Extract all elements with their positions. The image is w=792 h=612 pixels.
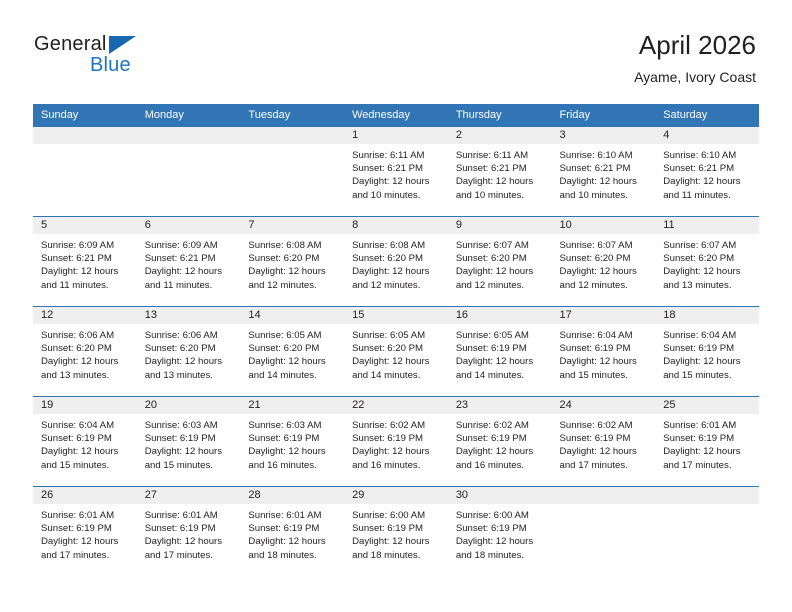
- day-detail-line: and 10 minutes.: [560, 189, 650, 202]
- day-details: Sunrise: 6:02 AMSunset: 6:19 PMDaylight:…: [448, 414, 552, 472]
- day-detail-line: Daylight: 12 hours: [145, 355, 235, 368]
- day-detail-line: Sunset: 6:20 PM: [456, 252, 546, 265]
- general-blue-logo[interactable]: General Blue: [34, 33, 154, 81]
- day-detail-line: Sunset: 6:21 PM: [456, 162, 546, 175]
- day-number: 12: [33, 307, 137, 324]
- calendar-day-cell[interactable]: 18Sunrise: 6:04 AMSunset: 6:19 PMDayligh…: [655, 307, 759, 397]
- day-number: 5: [33, 217, 137, 234]
- day-number: 18: [655, 307, 759, 324]
- day-detail-line: Sunrise: 6:10 AM: [663, 149, 753, 162]
- day-detail-line: Daylight: 12 hours: [560, 445, 650, 458]
- day-detail-line: Daylight: 12 hours: [352, 535, 442, 548]
- title-block: April 2026 Ayame, Ivory Coast: [634, 30, 756, 85]
- day-detail-line: and 18 minutes.: [456, 549, 546, 562]
- day-detail-line: Daylight: 12 hours: [663, 265, 753, 278]
- day-detail-line: Sunset: 6:19 PM: [41, 432, 131, 445]
- day-details: Sunrise: 6:11 AMSunset: 6:21 PMDaylight:…: [344, 144, 448, 202]
- day-detail-line: Sunset: 6:20 PM: [352, 342, 442, 355]
- day-number: 20: [137, 397, 241, 414]
- day-detail-line: Sunset: 6:19 PM: [352, 432, 442, 445]
- day-details: Sunrise: 6:02 AMSunset: 6:19 PMDaylight:…: [344, 414, 448, 472]
- calendar-day-cell[interactable]: 19Sunrise: 6:04 AMSunset: 6:19 PMDayligh…: [33, 397, 137, 487]
- day-details: Sunrise: 6:06 AMSunset: 6:20 PMDaylight:…: [33, 324, 137, 382]
- day-detail-line: and 13 minutes.: [663, 279, 753, 292]
- day-detail-line: Sunrise: 6:04 AM: [41, 419, 131, 432]
- day-detail-line: Sunrise: 6:01 AM: [663, 419, 753, 432]
- calendar-week-row: 12Sunrise: 6:06 AMSunset: 6:20 PMDayligh…: [33, 307, 759, 397]
- day-details: Sunrise: 6:07 AMSunset: 6:20 PMDaylight:…: [552, 234, 656, 292]
- logo-text-blue: Blue: [90, 54, 131, 76]
- weekday-header-saturday: Saturday: [655, 104, 759, 127]
- day-detail-line: Sunrise: 6:09 AM: [145, 239, 235, 252]
- calendar-day-cell[interactable]: 7Sunrise: 6:08 AMSunset: 6:20 PMDaylight…: [240, 217, 344, 307]
- day-detail-line: Sunset: 6:19 PM: [456, 342, 546, 355]
- day-detail-line: Sunrise: 6:10 AM: [560, 149, 650, 162]
- day-detail-line: and 13 minutes.: [145, 369, 235, 382]
- day-detail-line: Daylight: 12 hours: [456, 445, 546, 458]
- day-details: Sunrise: 6:01 AMSunset: 6:19 PMDaylight:…: [655, 414, 759, 472]
- day-number: 8: [344, 217, 448, 234]
- calendar-day-cell-empty: [240, 127, 344, 217]
- day-detail-line: Sunrise: 6:05 AM: [248, 329, 338, 342]
- day-detail-line: Daylight: 12 hours: [41, 445, 131, 458]
- day-detail-line: Sunset: 6:21 PM: [41, 252, 131, 265]
- day-detail-line: Daylight: 12 hours: [41, 535, 131, 548]
- calendar-table: Sunday Monday Tuesday Wednesday Thursday…: [33, 104, 759, 576]
- day-details: Sunrise: 6:03 AMSunset: 6:19 PMDaylight:…: [240, 414, 344, 472]
- calendar-day-cell[interactable]: 12Sunrise: 6:06 AMSunset: 6:20 PMDayligh…: [33, 307, 137, 397]
- day-detail-line: and 14 minutes.: [248, 369, 338, 382]
- day-detail-line: Daylight: 12 hours: [456, 355, 546, 368]
- calendar-day-cell-empty: [655, 487, 759, 577]
- day-number: [240, 127, 344, 144]
- weekday-header-friday: Friday: [552, 104, 656, 127]
- day-detail-line: Sunrise: 6:06 AM: [145, 329, 235, 342]
- day-details: Sunrise: 6:04 AMSunset: 6:19 PMDaylight:…: [552, 324, 656, 382]
- calendar-day-cell[interactable]: 27Sunrise: 6:01 AMSunset: 6:19 PMDayligh…: [137, 487, 241, 577]
- day-details: Sunrise: 6:04 AMSunset: 6:19 PMDaylight:…: [33, 414, 137, 472]
- day-detail-line: Sunset: 6:20 PM: [145, 342, 235, 355]
- day-detail-line: Sunrise: 6:06 AM: [41, 329, 131, 342]
- day-detail-line: Sunrise: 6:04 AM: [663, 329, 753, 342]
- calendar-body: 1Sunrise: 6:11 AMSunset: 6:21 PMDaylight…: [33, 127, 759, 577]
- day-details: Sunrise: 6:04 AMSunset: 6:19 PMDaylight:…: [655, 324, 759, 382]
- day-detail-line: Sunset: 6:19 PM: [352, 522, 442, 535]
- day-number: 14: [240, 307, 344, 324]
- day-detail-line: and 13 minutes.: [41, 369, 131, 382]
- day-details: Sunrise: 6:07 AMSunset: 6:20 PMDaylight:…: [655, 234, 759, 292]
- day-number: 15: [344, 307, 448, 324]
- day-detail-line: Sunrise: 6:05 AM: [352, 329, 442, 342]
- calendar-day-cell[interactable]: 22Sunrise: 6:02 AMSunset: 6:19 PMDayligh…: [344, 397, 448, 487]
- day-detail-line: and 11 minutes.: [663, 189, 753, 202]
- calendar-day-cell[interactable]: 11Sunrise: 6:07 AMSunset: 6:20 PMDayligh…: [655, 217, 759, 307]
- calendar-day-cell[interactable]: 1Sunrise: 6:11 AMSunset: 6:21 PMDaylight…: [344, 127, 448, 217]
- day-details: Sunrise: 6:05 AMSunset: 6:19 PMDaylight:…: [448, 324, 552, 382]
- day-number: 28: [240, 487, 344, 504]
- day-detail-line: Sunset: 6:20 PM: [663, 252, 753, 265]
- calendar-day-cell[interactable]: 10Sunrise: 6:07 AMSunset: 6:20 PMDayligh…: [552, 217, 656, 307]
- day-detail-line: Daylight: 12 hours: [663, 355, 753, 368]
- day-detail-line: Sunset: 6:20 PM: [248, 252, 338, 265]
- day-detail-line: Sunset: 6:21 PM: [560, 162, 650, 175]
- day-detail-line: and 17 minutes.: [41, 549, 131, 562]
- weekday-header-thursday: Thursday: [448, 104, 552, 127]
- day-details: Sunrise: 6:00 AMSunset: 6:19 PMDaylight:…: [344, 504, 448, 562]
- day-details: [137, 144, 241, 149]
- calendar-day-cell[interactable]: 2Sunrise: 6:11 AMSunset: 6:21 PMDaylight…: [448, 127, 552, 217]
- day-detail-line: and 10 minutes.: [456, 189, 546, 202]
- day-detail-line: Sunset: 6:19 PM: [248, 432, 338, 445]
- weekday-header-wednesday: Wednesday: [344, 104, 448, 127]
- day-detail-line: and 18 minutes.: [248, 549, 338, 562]
- day-detail-line: Sunset: 6:19 PM: [41, 522, 131, 535]
- calendar-day-cell[interactable]: 26Sunrise: 6:01 AMSunset: 6:19 PMDayligh…: [33, 487, 137, 577]
- day-detail-line: and 16 minutes.: [248, 459, 338, 472]
- day-detail-line: and 15 minutes.: [560, 369, 650, 382]
- calendar-day-cell[interactable]: 29Sunrise: 6:00 AMSunset: 6:19 PMDayligh…: [344, 487, 448, 577]
- day-detail-line: Sunset: 6:20 PM: [560, 252, 650, 265]
- calendar-day-cell[interactable]: 15Sunrise: 6:05 AMSunset: 6:20 PMDayligh…: [344, 307, 448, 397]
- calendar-header-row: Sunday Monday Tuesday Wednesday Thursday…: [33, 104, 759, 127]
- day-detail-line: and 16 minutes.: [456, 459, 546, 472]
- calendar-day-cell[interactable]: 30Sunrise: 6:00 AMSunset: 6:19 PMDayligh…: [448, 487, 552, 577]
- day-number: [655, 487, 759, 504]
- day-detail-line: Sunrise: 6:04 AM: [560, 329, 650, 342]
- day-number: [552, 487, 656, 504]
- calendar-week-row: 19Sunrise: 6:04 AMSunset: 6:19 PMDayligh…: [33, 397, 759, 487]
- day-detail-line: and 12 minutes.: [456, 279, 546, 292]
- day-detail-line: Sunrise: 6:02 AM: [560, 419, 650, 432]
- day-detail-line: Sunrise: 6:08 AM: [352, 239, 442, 252]
- day-detail-line: Sunrise: 6:07 AM: [663, 239, 753, 252]
- day-number: 11: [655, 217, 759, 234]
- day-detail-line: Sunrise: 6:02 AM: [456, 419, 546, 432]
- day-detail-line: Sunset: 6:19 PM: [456, 432, 546, 445]
- day-detail-line: Daylight: 12 hours: [248, 355, 338, 368]
- day-number: 3: [552, 127, 656, 144]
- calendar-day-cell[interactable]: 17Sunrise: 6:04 AMSunset: 6:19 PMDayligh…: [552, 307, 656, 397]
- day-detail-line: and 12 minutes.: [352, 279, 442, 292]
- day-detail-line: Sunrise: 6:08 AM: [248, 239, 338, 252]
- day-number: 13: [137, 307, 241, 324]
- day-detail-line: Daylight: 12 hours: [352, 355, 442, 368]
- day-detail-line: Sunrise: 6:00 AM: [352, 509, 442, 522]
- calendar-day-cell[interactable]: 21Sunrise: 6:03 AMSunset: 6:19 PMDayligh…: [240, 397, 344, 487]
- day-detail-line: Daylight: 12 hours: [145, 265, 235, 278]
- day-detail-line: Sunrise: 6:01 AM: [145, 509, 235, 522]
- day-detail-line: and 17 minutes.: [663, 459, 753, 472]
- day-number: 29: [344, 487, 448, 504]
- day-detail-line: Daylight: 12 hours: [248, 535, 338, 548]
- day-number: 25: [655, 397, 759, 414]
- day-detail-line: and 12 minutes.: [560, 279, 650, 292]
- day-detail-line: Sunset: 6:20 PM: [248, 342, 338, 355]
- page-subtitle: Ayame, Ivory Coast: [634, 69, 756, 85]
- day-detail-line: and 10 minutes.: [352, 189, 442, 202]
- day-detail-line: Daylight: 12 hours: [560, 355, 650, 368]
- day-detail-line: Daylight: 12 hours: [41, 265, 131, 278]
- day-details: Sunrise: 6:05 AMSunset: 6:20 PMDaylight:…: [344, 324, 448, 382]
- day-details: Sunrise: 6:10 AMSunset: 6:21 PMDaylight:…: [552, 144, 656, 202]
- day-detail-line: Sunrise: 6:01 AM: [248, 509, 338, 522]
- day-detail-line: and 14 minutes.: [352, 369, 442, 382]
- day-details: Sunrise: 6:06 AMSunset: 6:20 PMDaylight:…: [137, 324, 241, 382]
- weekday-header-sunday: Sunday: [33, 104, 137, 127]
- calendar-grid: Sunday Monday Tuesday Wednesday Thursday…: [33, 104, 759, 576]
- calendar-day-cell[interactable]: 13Sunrise: 6:06 AMSunset: 6:20 PMDayligh…: [137, 307, 241, 397]
- day-detail-line: Daylight: 12 hours: [456, 535, 546, 548]
- calendar-day-cell[interactable]: 4Sunrise: 6:10 AMSunset: 6:21 PMDaylight…: [655, 127, 759, 217]
- day-number: [137, 127, 241, 144]
- flag-triangle-icon: [109, 36, 136, 54]
- day-detail-line: Sunrise: 6:11 AM: [456, 149, 546, 162]
- day-detail-line: Sunset: 6:19 PM: [663, 342, 753, 355]
- day-detail-line: Daylight: 12 hours: [352, 175, 442, 188]
- day-number: 19: [33, 397, 137, 414]
- day-detail-line: Sunrise: 6:05 AM: [456, 329, 546, 342]
- day-number: 26: [33, 487, 137, 504]
- day-detail-line: Sunset: 6:19 PM: [145, 432, 235, 445]
- day-detail-line: Sunrise: 6:02 AM: [352, 419, 442, 432]
- day-number: 30: [448, 487, 552, 504]
- calendar-day-cell[interactable]: 16Sunrise: 6:05 AMSunset: 6:19 PMDayligh…: [448, 307, 552, 397]
- day-detail-line: Daylight: 12 hours: [145, 445, 235, 458]
- day-details: Sunrise: 6:03 AMSunset: 6:19 PMDaylight:…: [137, 414, 241, 472]
- day-details: Sunrise: 6:07 AMSunset: 6:20 PMDaylight:…: [448, 234, 552, 292]
- day-details: Sunrise: 6:08 AMSunset: 6:20 PMDaylight:…: [240, 234, 344, 292]
- day-detail-line: and 14 minutes.: [456, 369, 546, 382]
- day-details: [552, 504, 656, 509]
- day-number: 9: [448, 217, 552, 234]
- day-detail-line: Daylight: 12 hours: [352, 445, 442, 458]
- day-number: 23: [448, 397, 552, 414]
- day-detail-line: Sunrise: 6:03 AM: [145, 419, 235, 432]
- day-number: [33, 127, 137, 144]
- logo-text-general: General: [34, 33, 107, 55]
- day-detail-line: and 17 minutes.: [560, 459, 650, 472]
- day-number: 7: [240, 217, 344, 234]
- day-detail-line: Daylight: 12 hours: [456, 175, 546, 188]
- day-detail-line: Daylight: 12 hours: [41, 355, 131, 368]
- day-number: 2: [448, 127, 552, 144]
- day-details: Sunrise: 6:01 AMSunset: 6:19 PMDaylight:…: [240, 504, 344, 562]
- day-detail-line: and 11 minutes.: [145, 279, 235, 292]
- day-detail-line: and 12 minutes.: [248, 279, 338, 292]
- calendar-day-cell[interactable]: 8Sunrise: 6:08 AMSunset: 6:20 PMDaylight…: [344, 217, 448, 307]
- calendar-day-cell[interactable]: 14Sunrise: 6:05 AMSunset: 6:20 PMDayligh…: [240, 307, 344, 397]
- day-detail-line: Sunset: 6:21 PM: [352, 162, 442, 175]
- day-detail-line: Sunrise: 6:01 AM: [41, 509, 131, 522]
- day-details: [655, 504, 759, 509]
- day-detail-line: Sunset: 6:19 PM: [248, 522, 338, 535]
- calendar-day-cell[interactable]: 5Sunrise: 6:09 AMSunset: 6:21 PMDaylight…: [33, 217, 137, 307]
- day-details: Sunrise: 6:08 AMSunset: 6:20 PMDaylight:…: [344, 234, 448, 292]
- day-detail-line: Daylight: 12 hours: [560, 175, 650, 188]
- day-detail-line: Sunset: 6:19 PM: [145, 522, 235, 535]
- day-detail-line: and 17 minutes.: [145, 549, 235, 562]
- day-detail-line: Daylight: 12 hours: [663, 445, 753, 458]
- day-details: Sunrise: 6:02 AMSunset: 6:19 PMDaylight:…: [552, 414, 656, 472]
- day-details: Sunrise: 6:01 AMSunset: 6:19 PMDaylight:…: [137, 504, 241, 562]
- calendar-day-cell[interactable]: 9Sunrise: 6:07 AMSunset: 6:20 PMDaylight…: [448, 217, 552, 307]
- day-detail-line: Daylight: 12 hours: [560, 265, 650, 278]
- calendar-day-cell[interactable]: 23Sunrise: 6:02 AMSunset: 6:19 PMDayligh…: [448, 397, 552, 487]
- day-number: 6: [137, 217, 241, 234]
- day-number: 16: [448, 307, 552, 324]
- weekday-header-tuesday: Tuesday: [240, 104, 344, 127]
- calendar-day-cell[interactable]: 3Sunrise: 6:10 AMSunset: 6:21 PMDaylight…: [552, 127, 656, 217]
- day-number: 17: [552, 307, 656, 324]
- day-detail-line: Sunset: 6:19 PM: [456, 522, 546, 535]
- day-number: 22: [344, 397, 448, 414]
- day-detail-line: Sunset: 6:21 PM: [145, 252, 235, 265]
- day-detail-line: Sunrise: 6:07 AM: [456, 239, 546, 252]
- weekday-header-monday: Monday: [137, 104, 241, 127]
- day-detail-line: Sunset: 6:20 PM: [352, 252, 442, 265]
- day-details: Sunrise: 6:09 AMSunset: 6:21 PMDaylight:…: [33, 234, 137, 292]
- calendar-week-row: 5Sunrise: 6:09 AMSunset: 6:21 PMDaylight…: [33, 217, 759, 307]
- day-detail-line: Sunset: 6:19 PM: [560, 342, 650, 355]
- day-details: Sunrise: 6:10 AMSunset: 6:21 PMDaylight:…: [655, 144, 759, 202]
- calendar-week-row: 1Sunrise: 6:11 AMSunset: 6:21 PMDaylight…: [33, 127, 759, 217]
- day-detail-line: Daylight: 12 hours: [248, 445, 338, 458]
- day-detail-line: and 15 minutes.: [663, 369, 753, 382]
- day-details: Sunrise: 6:05 AMSunset: 6:20 PMDaylight:…: [240, 324, 344, 382]
- day-details: Sunrise: 6:09 AMSunset: 6:21 PMDaylight:…: [137, 234, 241, 292]
- day-number: 27: [137, 487, 241, 504]
- day-detail-line: Daylight: 12 hours: [352, 265, 442, 278]
- calendar-day-cell[interactable]: 24Sunrise: 6:02 AMSunset: 6:19 PMDayligh…: [552, 397, 656, 487]
- day-details: [240, 144, 344, 149]
- day-detail-line: Daylight: 12 hours: [456, 265, 546, 278]
- day-detail-line: and 15 minutes.: [41, 459, 131, 472]
- day-details: Sunrise: 6:00 AMSunset: 6:19 PMDaylight:…: [448, 504, 552, 562]
- day-detail-line: and 18 minutes.: [352, 549, 442, 562]
- day-details: Sunrise: 6:11 AMSunset: 6:21 PMDaylight:…: [448, 144, 552, 202]
- page-title: April 2026: [634, 30, 756, 60]
- page-header: General Blue April 2026 Ayame, Ivory Coa…: [0, 0, 792, 100]
- calendar-day-cell-empty: [552, 487, 656, 577]
- day-detail-line: Sunset: 6:19 PM: [663, 432, 753, 445]
- calendar-day-cell[interactable]: 6Sunrise: 6:09 AMSunset: 6:21 PMDaylight…: [137, 217, 241, 307]
- day-detail-line: and 15 minutes.: [145, 459, 235, 472]
- day-detail-line: Sunrise: 6:09 AM: [41, 239, 131, 252]
- day-detail-line: Sunset: 6:19 PM: [560, 432, 650, 445]
- day-detail-line: and 16 minutes.: [352, 459, 442, 472]
- calendar-day-cell[interactable]: 20Sunrise: 6:03 AMSunset: 6:19 PMDayligh…: [137, 397, 241, 487]
- day-detail-line: Sunset: 6:20 PM: [41, 342, 131, 355]
- day-detail-line: Sunrise: 6:00 AM: [456, 509, 546, 522]
- calendar-day-cell-empty: [137, 127, 241, 217]
- calendar-day-cell[interactable]: 25Sunrise: 6:01 AMSunset: 6:19 PMDayligh…: [655, 397, 759, 487]
- day-number: 24: [552, 397, 656, 414]
- day-detail-line: and 11 minutes.: [41, 279, 131, 292]
- day-detail-line: Daylight: 12 hours: [248, 265, 338, 278]
- calendar-day-cell-empty: [33, 127, 137, 217]
- day-detail-line: Sunrise: 6:11 AM: [352, 149, 442, 162]
- day-detail-line: Sunrise: 6:07 AM: [560, 239, 650, 252]
- day-detail-line: Daylight: 12 hours: [145, 535, 235, 548]
- day-number: 21: [240, 397, 344, 414]
- day-number: 1: [344, 127, 448, 144]
- day-details: [33, 144, 137, 149]
- calendar-day-cell[interactable]: 28Sunrise: 6:01 AMSunset: 6:19 PMDayligh…: [240, 487, 344, 577]
- day-number: 10: [552, 217, 656, 234]
- day-detail-line: Daylight: 12 hours: [663, 175, 753, 188]
- day-number: 4: [655, 127, 759, 144]
- calendar-week-row: 26Sunrise: 6:01 AMSunset: 6:19 PMDayligh…: [33, 487, 759, 577]
- day-detail-line: Sunrise: 6:03 AM: [248, 419, 338, 432]
- day-detail-line: Sunset: 6:21 PM: [663, 162, 753, 175]
- calendar-page: General Blue April 2026 Ayame, Ivory Coa…: [0, 0, 792, 612]
- day-details: Sunrise: 6:01 AMSunset: 6:19 PMDaylight:…: [33, 504, 137, 562]
